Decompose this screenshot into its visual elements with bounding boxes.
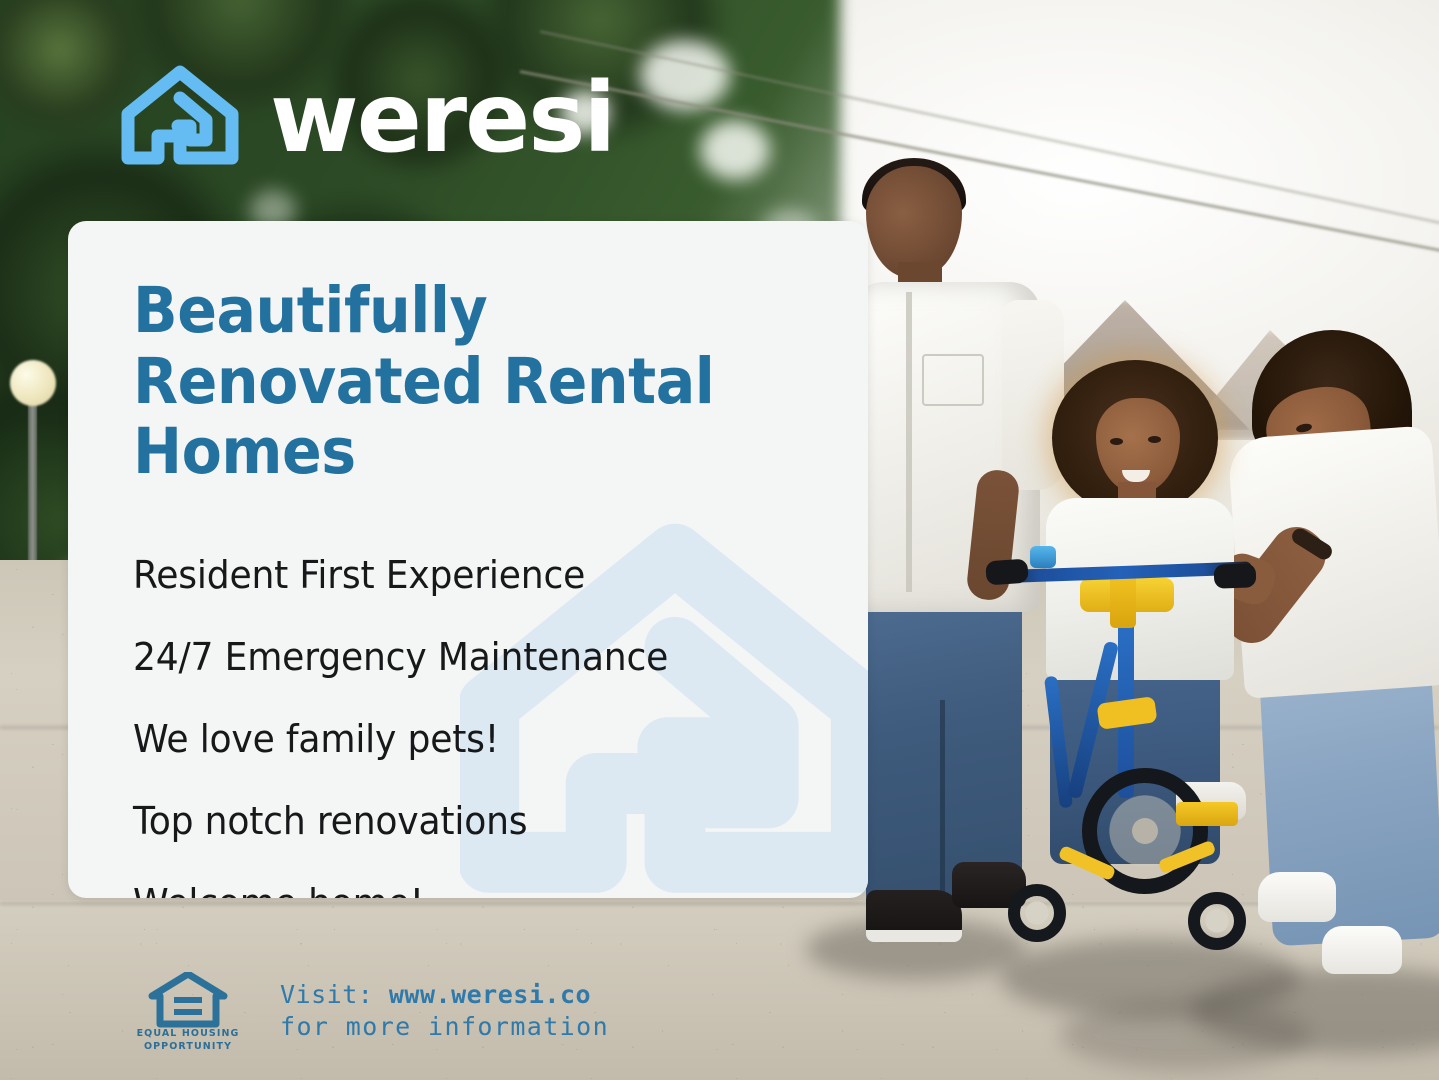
- list-item: We love family pets!: [133, 720, 831, 758]
- bicycle-stem: [1110, 572, 1136, 628]
- sun-dapple: [640, 40, 730, 110]
- visit-prefix: Visit:: [280, 980, 373, 1009]
- list-item: 24/7 Emergency Maintenance: [133, 638, 831, 676]
- child-eye-right: [1148, 436, 1161, 443]
- content-card: Beautifully Renovated Rental Homes Resid…: [68, 221, 868, 898]
- list-item: Welcome home!: [133, 884, 831, 898]
- father-shirt-placket: [906, 292, 912, 592]
- page-title: Beautifully Renovated Rental Homes: [133, 276, 784, 488]
- list-item: Resident First Experience: [133, 556, 831, 594]
- bicycle-grip-right: [1214, 563, 1257, 588]
- footer: EQUAL HOUSING OPPORTUNITY Visit: www.wer…: [140, 972, 609, 1054]
- equal-housing-badge: EQUAL HOUSING OPPORTUNITY: [140, 972, 236, 1054]
- brand-lockup: weresi: [120, 62, 614, 174]
- father-sleeve: [1002, 300, 1064, 490]
- equal-housing-opportunity-icon: [148, 972, 228, 1028]
- visit-block: Visit: www.weresi.co for more informatio…: [280, 979, 609, 1043]
- father-shirt-pocket: [922, 354, 984, 406]
- bicycle-hub: [1132, 818, 1158, 844]
- eho-label-line1: EQUAL HOUSING: [137, 1028, 240, 1041]
- cast-shadow: [1060, 1000, 1310, 1070]
- lamp-post-globe: [10, 360, 56, 406]
- bicycle-bell: [1030, 546, 1056, 568]
- father-shoe-sole: [866, 930, 962, 942]
- mother-shoe-right: [1322, 926, 1402, 974]
- mother-shoe-left: [1258, 872, 1336, 922]
- sun-dapple: [700, 120, 770, 180]
- brand-wordmark: weresi: [270, 70, 614, 166]
- feature-list: Resident First Experience 24/7 Emergency…: [133, 556, 868, 898]
- father-leg-seam: [940, 700, 945, 906]
- bicycle-grip-left: [985, 559, 1029, 586]
- more-information-label: for more information: [280, 1011, 609, 1043]
- bicycle-pedal: [1176, 802, 1238, 826]
- bicycle-training-wheel-left: [1008, 884, 1066, 942]
- eho-label-line2: OPPORTUNITY: [144, 1041, 232, 1054]
- list-item: Top notch renovations: [133, 802, 831, 840]
- child-eye-left: [1110, 438, 1123, 445]
- house-logo-icon: [120, 62, 240, 174]
- bicycle-training-wheel-right: [1188, 892, 1246, 950]
- website-url[interactable]: www.weresi.co: [389, 980, 591, 1009]
- flyer-root: weresi Beautifully Renovated Rental Home…: [0, 0, 1439, 1080]
